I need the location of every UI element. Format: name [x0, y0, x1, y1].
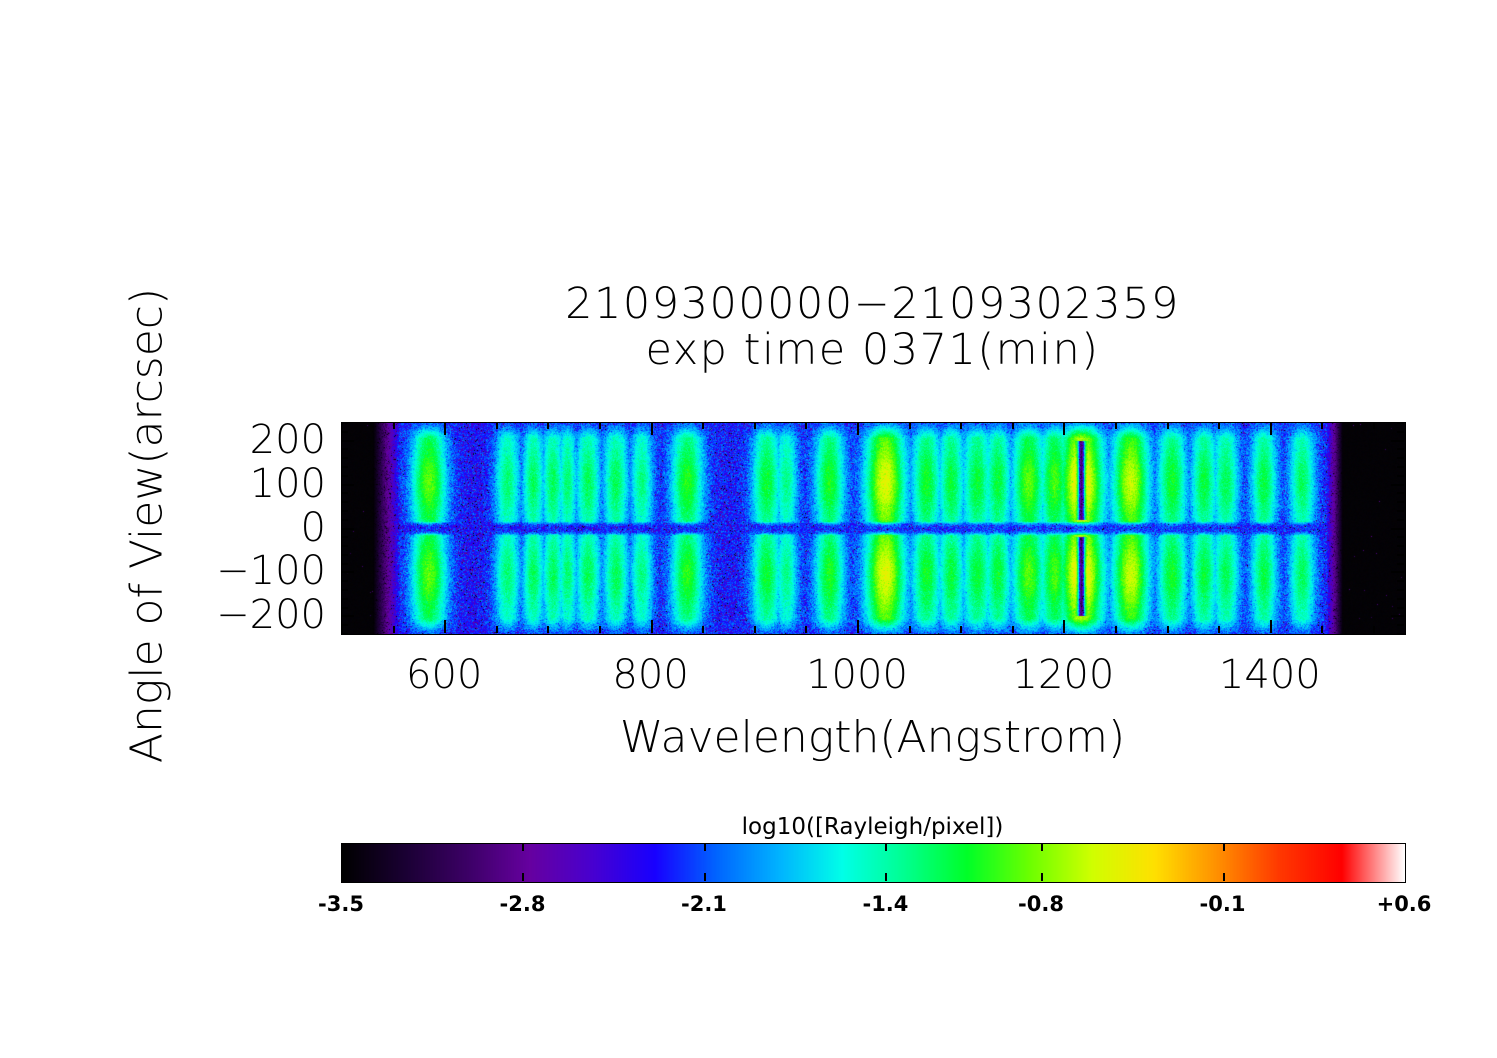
colorbar-tick [1223, 843, 1225, 851]
y-axis-title: Angle of View(arcsec) [122, 276, 173, 776]
plot-title: 2109300000−2109302359 exp time 0371(min) [341, 282, 1404, 373]
x-tick-label: 800 [571, 655, 731, 695]
x-axis-title: Wavelength(Angstrom) [341, 712, 1404, 763]
title-line-1: 2109300000−2109302359 [341, 282, 1404, 328]
colorbar-tick-label: -2.8 [462, 894, 582, 915]
x-tick-label: 600 [364, 655, 524, 695]
title-line-2: exp time 0371(min) [341, 328, 1404, 374]
colorbar-tick-label: -1.4 [825, 894, 945, 915]
y-tick-label: 0 [196, 508, 326, 548]
y-tick-label: 200 [196, 420, 326, 460]
x-tick-label: 1000 [777, 655, 937, 695]
colorbar-tick-label: -3.5 [281, 894, 401, 915]
colorbar-tick [885, 873, 887, 881]
colorbar-title: log10([Rayleigh/pixel]) [341, 814, 1404, 840]
colorbar-tick [885, 843, 887, 851]
colorbar [341, 843, 1406, 883]
spectrogram-image [342, 423, 1405, 634]
colorbar-tick-label: -2.1 [644, 894, 764, 915]
colorbar-tick-label: -0.8 [981, 894, 1101, 915]
colorbar-tick [1223, 873, 1225, 881]
y-tick-label: 100 [196, 464, 326, 504]
colorbar-tick-label: +0.6 [1344, 894, 1464, 915]
colorbar-tick [1041, 873, 1043, 881]
colorbar-tick [522, 873, 524, 881]
colorbar-tick [1041, 843, 1043, 851]
x-tick-label: 1200 [983, 655, 1143, 695]
colorbar-tick [704, 843, 706, 851]
spectrogram-plot-area [341, 422, 1406, 635]
y-tick-label: −200 [196, 595, 326, 635]
colorbar-tick-label: -0.1 [1163, 894, 1283, 915]
x-tick-label: 1400 [1190, 655, 1350, 695]
y-tick-label: −100 [196, 551, 326, 591]
colorbar-tick [704, 873, 706, 881]
colorbar-tick [522, 843, 524, 851]
colorbar-gradient [342, 844, 1405, 882]
